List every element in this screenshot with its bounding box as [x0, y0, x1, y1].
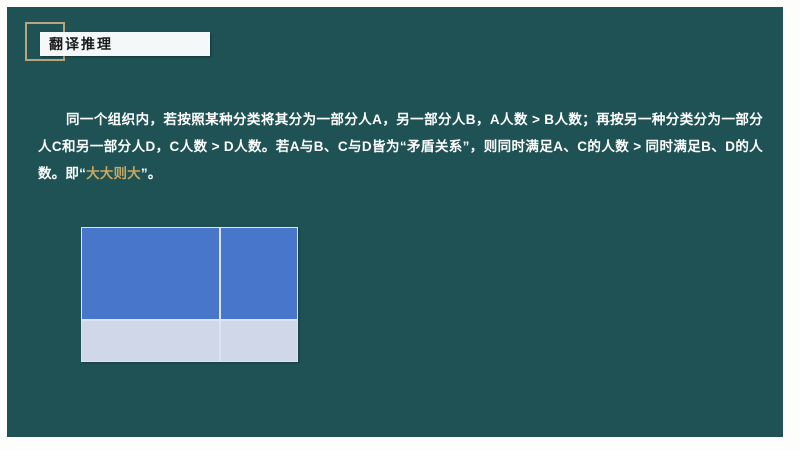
body-text-segment-3: ”。	[141, 166, 162, 181]
slide-canvas: 翻译推理 同一个组织内，若按照某种分类将其分为一部分人A，另一部分人B，A人数 …	[7, 7, 783, 437]
slide-page: 翻译推理 同一个组织内，若按照某种分类将其分为一部分人A，另一部分人B，A人数 …	[0, 0, 800, 450]
body-highlight-phrase: 大大则大	[86, 166, 141, 181]
table-cell-bottom-left	[81, 320, 220, 362]
table-row	[81, 227, 298, 320]
table-cell-bottom-right	[220, 320, 298, 362]
table-row	[81, 320, 298, 362]
diagram-table	[81, 227, 298, 362]
body-paragraph: 同一个组织内，若按照某种分类将其分为一部分人A，另一部分人B，A人数 > B人数…	[38, 106, 763, 187]
table-cell-top-right	[220, 227, 298, 320]
table-cell-top-left	[81, 227, 220, 320]
title-plate: 翻译推理	[40, 32, 210, 56]
slide-title-group: 翻译推理	[25, 22, 275, 77]
page-title: 翻译推理	[40, 37, 113, 51]
